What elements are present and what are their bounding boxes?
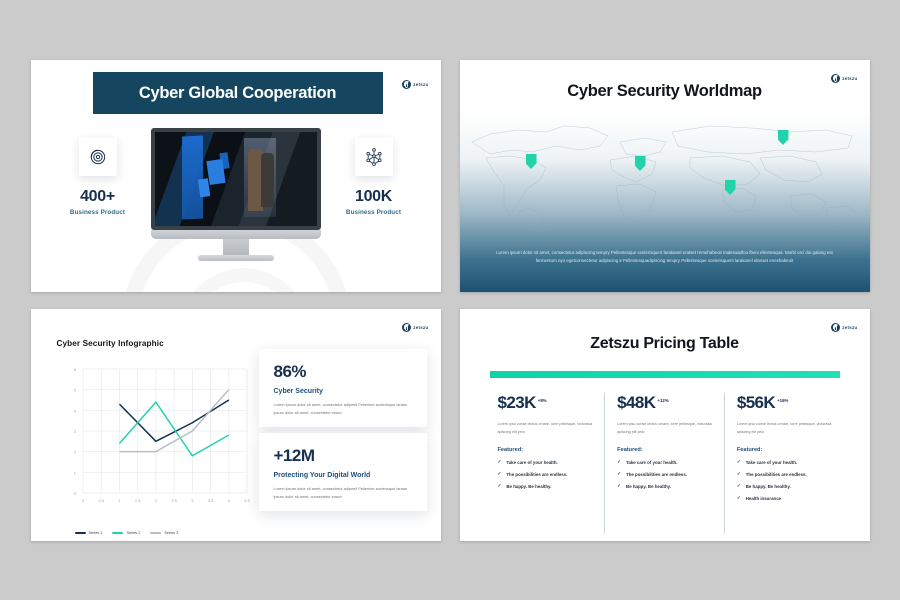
brand-wordmark: zetszu xyxy=(842,325,857,330)
feature-item: ✓The possibilities are endless. xyxy=(498,472,593,477)
pricing-description: Lorem ipsu conse lectus ornare, lorre pe… xyxy=(498,420,593,436)
svg-text:4: 4 xyxy=(227,498,230,503)
legend-swatch xyxy=(75,532,86,534)
feature-label: Be happy. Be healthy. xyxy=(746,484,791,489)
svg-text:1.5: 1.5 xyxy=(134,498,140,503)
chart-x-tick-labels: 00.511.522.533.544.5 xyxy=(81,498,250,503)
pricing-columns: $23K+8%Lorem ipsu conse lectus ornare, l… xyxy=(486,393,844,533)
line-chart[interactable]: 0123456 00.511.522.533.544.5 xyxy=(57,361,257,521)
slide-2-worldmap[interactable]: zetszu Cyber Security Worldmap xyxy=(460,60,870,292)
feature-label: Be happy. Be healthy. xyxy=(506,484,551,489)
slide-2-title: Cyber Security Worldmap xyxy=(460,82,870,101)
pricing-description: Lorem ipsu conse lectus ornare, lorre pe… xyxy=(617,420,712,436)
screen-person-2 xyxy=(261,153,274,208)
featured-label: Featured: xyxy=(737,447,832,453)
globe-icon xyxy=(402,80,411,89)
check-icon: ✓ xyxy=(498,484,502,489)
slide-1-title: Cyber Global Cooperation xyxy=(139,84,336,103)
legend-item[interactable]: Series 2 xyxy=(112,531,140,535)
svg-text:4.5: 4.5 xyxy=(244,498,250,503)
svg-text:1: 1 xyxy=(118,498,121,503)
slide-1-cover[interactable]: Cyber Global Cooperation zetszu xyxy=(31,60,441,292)
world-map: Lorem ipsum dolor sit amet, consectetur … xyxy=(460,112,870,292)
slide-2-paragraph: Lorem ipsum dolor sit amet, consectetur … xyxy=(496,249,834,266)
info-card-text: Lorem ipsum dolor sit amet, consectetur … xyxy=(274,485,412,501)
feature-label: Be happy. Be healthy. xyxy=(626,484,671,489)
check-icon: ✓ xyxy=(498,460,502,465)
check-icon: ✓ xyxy=(737,484,741,489)
stat-block-right: 100K Business Product xyxy=(329,138,419,216)
feature-item: ✓Take care of your health. xyxy=(498,460,593,465)
svg-text:2: 2 xyxy=(73,450,76,455)
feature-list: ✓Take care of your health.✓The possibili… xyxy=(737,460,832,501)
chart-legend: Series 1Series 2Series 3 xyxy=(75,531,179,535)
molecule-network-icon xyxy=(355,138,393,176)
feature-label: The possibilities are endless. xyxy=(746,472,807,477)
feature-item: ✓The possibilities are endless. xyxy=(737,472,832,477)
check-icon: ✓ xyxy=(737,460,741,465)
check-icon: ✓ xyxy=(737,496,741,501)
pricing-header: $23K+8% xyxy=(498,393,593,413)
svg-text:0: 0 xyxy=(81,498,84,503)
fingerprint-icon xyxy=(79,138,117,176)
info-card-value: 86% xyxy=(274,362,412,382)
accent-bar xyxy=(490,371,840,378)
info-card-1[interactable]: 86% Cyber Security Lorem ipsum dolor sit… xyxy=(259,349,427,427)
brand-wordmark: zetszu xyxy=(842,76,857,81)
svg-text:2: 2 xyxy=(154,498,157,503)
price-value: $56K xyxy=(737,393,775,413)
slide-4-title: Zetszu Pricing Table xyxy=(460,335,870,353)
brand-logo: zetszu xyxy=(831,323,857,332)
pricing-header: $56K+16% xyxy=(737,393,832,413)
pricing-column[interactable]: $48K+12%Lorem ipsu conse lectus ornare, … xyxy=(604,393,724,533)
pricing-column[interactable]: $56K+16%Lorem ipsu conse lectus ornare, … xyxy=(724,393,844,533)
info-card-2[interactable]: +12M Protecting Your Digital World Lorem… xyxy=(259,433,427,511)
world-map-outline xyxy=(460,112,870,232)
slide-3-title: Cyber Security Infographic xyxy=(57,339,164,348)
pricing-header: $48K+12% xyxy=(617,393,712,413)
legend-swatch xyxy=(150,532,161,534)
feature-item: ✓Take care of your health. xyxy=(737,460,832,465)
slide-deck-preview: Cyber Global Cooperation zetszu xyxy=(0,0,900,600)
info-card-label: Cyber Security xyxy=(274,388,412,395)
monitor-stand-base xyxy=(198,255,274,261)
brand-wordmark: zetszu xyxy=(413,82,428,87)
chart-gridlines xyxy=(83,369,247,493)
legend-label: Series 1 xyxy=(89,531,103,535)
stat-block-left: 400+ Business Product xyxy=(53,138,143,216)
brand-wordmark: zetszu xyxy=(413,325,428,330)
feature-list: ✓Take care of your health.✓The possibili… xyxy=(617,460,712,489)
feature-item: ✓Health insurance xyxy=(737,496,832,501)
legend-item[interactable]: Series 3 xyxy=(150,531,178,535)
feature-list: ✓Take care of your health.✓The possibili… xyxy=(498,460,593,489)
stat-value: 100K xyxy=(329,188,419,206)
screen-photo xyxy=(155,132,317,226)
feature-label: The possibilities are endless. xyxy=(506,472,567,477)
info-card-text: Lorem ipsum dolor sit amet, consectetur … xyxy=(274,401,412,417)
legend-label: Series 2 xyxy=(126,531,140,535)
feature-item: ✓Be happy. Be healthy. xyxy=(737,484,832,489)
slide-3-infographic[interactable]: zetszu Cyber Security Infographic 012345… xyxy=(31,309,441,541)
monitor-screen xyxy=(151,128,321,230)
monitor-stand-neck xyxy=(223,239,249,255)
legend-label: Series 3 xyxy=(164,531,178,535)
feature-label: Take care of your health. xyxy=(626,460,677,465)
feature-item: ✓Take care of your health. xyxy=(617,460,712,465)
stat-caption: Business Product xyxy=(53,209,143,216)
svg-text:2.5: 2.5 xyxy=(171,498,177,503)
check-icon: ✓ xyxy=(498,472,502,477)
globe-icon xyxy=(831,323,840,332)
featured-label: Featured: xyxy=(498,447,593,453)
feature-label: Take care of your health. xyxy=(746,460,797,465)
price-value: $23K xyxy=(498,393,536,413)
svg-text:1: 1 xyxy=(73,470,76,475)
check-icon: ✓ xyxy=(617,472,621,477)
svg-text:3: 3 xyxy=(191,498,194,503)
price-change-badge: +8% xyxy=(538,398,547,403)
svg-text:0: 0 xyxy=(73,491,76,496)
stat-caption: Business Product xyxy=(329,209,419,216)
info-card-label: Protecting Your Digital World xyxy=(274,472,412,479)
feature-item: ✓Be happy. Be healthy. xyxy=(617,484,712,489)
svg-text:0.5: 0.5 xyxy=(98,498,104,503)
price-value: $48K xyxy=(617,393,655,413)
feature-label: Health insurance xyxy=(746,496,781,501)
legend-swatch xyxy=(112,532,123,534)
globe-icon xyxy=(402,323,411,332)
check-icon: ✓ xyxy=(617,460,621,465)
check-icon: ✓ xyxy=(737,472,741,477)
svg-text:6: 6 xyxy=(73,367,76,372)
check-icon: ✓ xyxy=(617,484,621,489)
info-card-value: +12M xyxy=(274,446,412,466)
stat-value: 400+ xyxy=(53,188,143,206)
brand-logo: zetszu xyxy=(402,323,428,332)
feature-label: The possibilities are endless. xyxy=(626,472,687,477)
feature-item: ✓The possibilities are endless. xyxy=(617,472,712,477)
svg-text:3.5: 3.5 xyxy=(207,498,213,503)
chart-y-tick-labels: 0123456 xyxy=(73,367,76,496)
pricing-column[interactable]: $23K+8%Lorem ipsu conse lectus ornare, l… xyxy=(486,393,605,533)
price-change-badge: +12% xyxy=(657,398,668,403)
feature-label: Take care of your health. xyxy=(506,460,557,465)
svg-text:4: 4 xyxy=(73,408,76,413)
slide-1-title-bar: Cyber Global Cooperation xyxy=(93,72,383,114)
featured-label: Featured: xyxy=(617,447,712,453)
svg-text:3: 3 xyxy=(73,429,76,434)
svg-text:5: 5 xyxy=(73,388,76,393)
slide-4-pricing-table[interactable]: zetszu Zetszu Pricing Table $23K+8%Lorem… xyxy=(460,309,870,541)
monitor-illustration xyxy=(151,128,321,261)
price-change-badge: +16% xyxy=(777,398,788,403)
monitor-chin xyxy=(151,230,321,239)
legend-item[interactable]: Series 1 xyxy=(75,531,103,535)
pricing-description: Lorem ipsu conse lectus ornare, lorre pe… xyxy=(737,420,832,436)
brand-logo: zetszu xyxy=(402,80,428,89)
feature-item: ✓Be happy. Be healthy. xyxy=(498,484,593,489)
line-chart-svg: 0123456 00.511.522.533.544.5 xyxy=(57,361,257,521)
